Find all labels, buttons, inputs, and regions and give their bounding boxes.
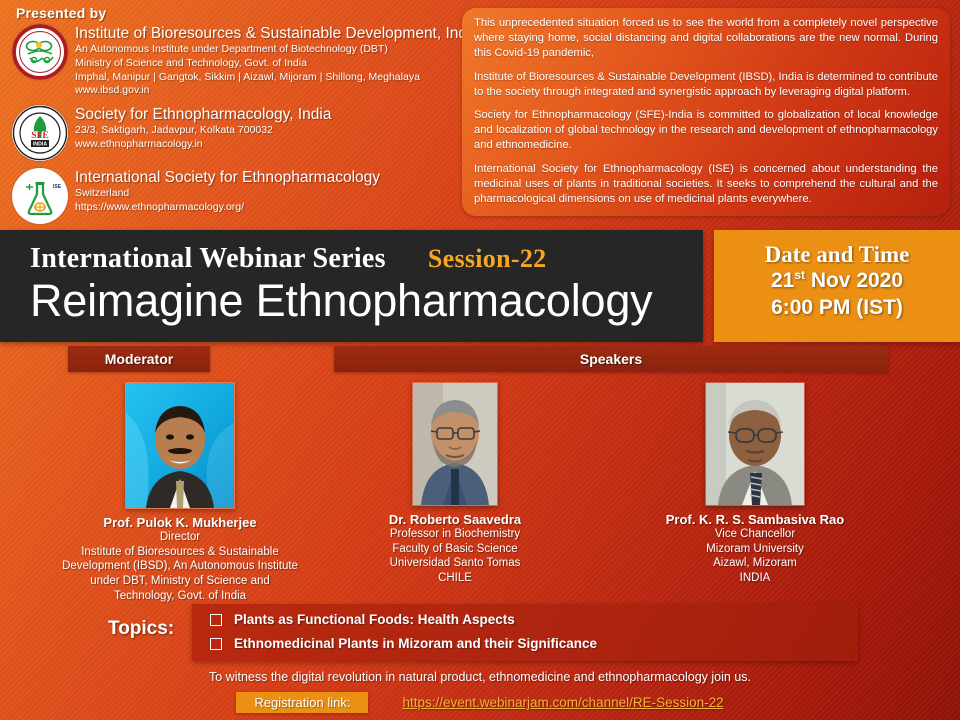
svg-text:INDIA: INDIA (33, 142, 47, 148)
speaker-detail: Universidad Santo Tomas (330, 556, 580, 571)
organizer-website: https://www.ethnopharmacology.org/ (75, 201, 380, 215)
ise-logo-icon: ISE (12, 168, 68, 224)
organizer-detail: Imphal, Manipur | Gangtok, Sikkim | Aiza… (75, 71, 479, 85)
organizer-sfe-india: SFE INDIA SOCIETY FOR ETHNOPHARMACOLOGY … (12, 105, 462, 161)
topics-box: Plants as Functional Foods: Health Aspec… (192, 604, 858, 661)
event-month-year: Nov 2020 (805, 269, 903, 292)
topic-item: Plants as Functional Foods: Health Aspec… (210, 612, 858, 627)
topic-text: Plants as Functional Foods: Health Aspec… (234, 612, 515, 627)
intro-paragraph: Society for Ethnopharmacology (SFE)-Indi… (474, 108, 938, 153)
moderator-detail: Technology, Govt. of India (0, 589, 360, 604)
organizer-name: Institute of Bioresources & Sustainable … (75, 25, 479, 43)
speaker-detail: Professor in Biochemistry (330, 527, 580, 542)
moderator-detail: under DBT, Ministry of Science and (0, 574, 360, 589)
speaker-card: Dr. Roberto Saavedra Professor in Bioche… (330, 382, 580, 586)
speaker-detail: Faculty of Basic Science (330, 542, 580, 557)
ibsd-logo-icon (12, 24, 68, 80)
webinar-poster: Presented by Inst (0, 0, 960, 720)
date-time-box: Date and Time 21st Nov 2020 6:00 PM (IST… (714, 230, 960, 342)
series-row: International Webinar Series Session-22 (30, 243, 546, 275)
organizer-name: Society for Ethnopharmacology, India (75, 106, 331, 124)
speaker-detail: Vice Chancellor (620, 527, 890, 542)
topic-text: Ethnomedicinal Plants in Mizoram and the… (234, 636, 597, 651)
speakers-section-bar: Speakers (334, 346, 888, 372)
intro-paragraph: International Society for Ethnopharmacol… (474, 162, 938, 207)
event-date: 21st Nov 2020 (714, 268, 960, 295)
moderator-section-bar: Moderator (68, 346, 210, 372)
organizer-ise-text: International Society for Ethnopharmacol… (75, 168, 380, 215)
event-day-suffix: st (794, 268, 805, 282)
speaker-detail: CHILE (330, 571, 580, 586)
speaker-2-photo (705, 382, 805, 506)
organizer-detail: Ministry of Science and Technology, Govt… (75, 57, 479, 71)
speaker-detail: Aizawl, Mizoram (620, 556, 890, 571)
sfe-india-logo-icon: SFE INDIA SOCIETY FOR ETHNOPHARMACOLOGY (12, 105, 68, 161)
intro-text-panel: This unprecedented situation forced us t… (462, 8, 950, 216)
organizer-list: Institute of Bioresources & Sustainable … (12, 24, 462, 231)
topics-label: Topics: (108, 618, 174, 640)
organizer-detail: An Autonomous Institute under Department… (75, 43, 479, 57)
organizer-detail: 23/3, Saktigarh, Jadavpur, Kolkata 70003… (75, 124, 331, 138)
presented-by-label: Presented by (16, 5, 106, 21)
registration-row: Registration link: https://event.webinar… (0, 692, 960, 713)
intro-paragraph: Institute of Bioresources & Sustainable … (474, 70, 938, 100)
moderator-detail: Director (0, 530, 360, 545)
event-day: 21 (771, 269, 794, 292)
speaker-card: Prof. K. R. S. Sambasiva Rao Vice Chance… (620, 382, 890, 586)
title-banner: International Webinar Series Session-22 … (0, 230, 703, 342)
organizer-ibsd: Institute of Bioresources & Sustainable … (12, 24, 462, 98)
session-number: Session-22 (428, 244, 547, 274)
organizer-website: www.ethnopharmacology.in (75, 138, 331, 152)
event-time: 6:00 PM (IST) (714, 295, 960, 322)
footer-note: To witness the digital revolution in nat… (0, 670, 960, 684)
speaker-detail: INDIA (620, 571, 890, 586)
checkbox-square-icon (210, 638, 222, 650)
organizer-website: www.ibsd.gov.in (75, 84, 479, 98)
speaker-1-photo (412, 382, 498, 506)
svg-text:SFE: SFE (31, 131, 48, 141)
organizer-sfe-text: Society for Ethnopharmacology, India 23/… (75, 105, 331, 152)
speaker-detail: Mizoram University (620, 542, 890, 557)
speaker-name: Dr. Roberto Saavedra (330, 512, 580, 527)
organizer-name: International Society for Ethnopharmacol… (75, 169, 380, 187)
svg-text:ISE: ISE (53, 184, 62, 190)
moderator-detail: Institute of Bioresources & Sustainable (0, 545, 360, 560)
registration-label: Registration link: (236, 692, 368, 713)
checkbox-square-icon (210, 614, 222, 626)
intro-paragraph: This unprecedented situation forced us t… (474, 16, 938, 61)
registration-link[interactable]: https://event.webinarjam.com/channel/RE-… (402, 695, 723, 710)
organizer-detail: Switzerland (75, 187, 380, 201)
organizer-ibsd-text: Institute of Bioresources & Sustainable … (75, 24, 479, 98)
organizer-ise: ISE International Society for Ethnopharm… (12, 168, 462, 224)
moderator-photo (125, 382, 235, 509)
series-title: International Webinar Series (30, 243, 386, 275)
topic-item: Ethnomedicinal Plants in Mizoram and the… (210, 636, 858, 651)
moderator-card: Prof. Pulok K. Mukherjee Director Instit… (0, 382, 360, 604)
moderator-name: Prof. Pulok K. Mukherjee (0, 515, 360, 530)
moderator-detail: Development (IBSD), An Autonomous Instit… (0, 559, 360, 574)
speaker-name: Prof. K. R. S. Sambasiva Rao (620, 512, 890, 527)
page-title: Reimagine Ethnopharmacology (30, 275, 652, 327)
date-time-heading: Date and Time (714, 242, 960, 268)
